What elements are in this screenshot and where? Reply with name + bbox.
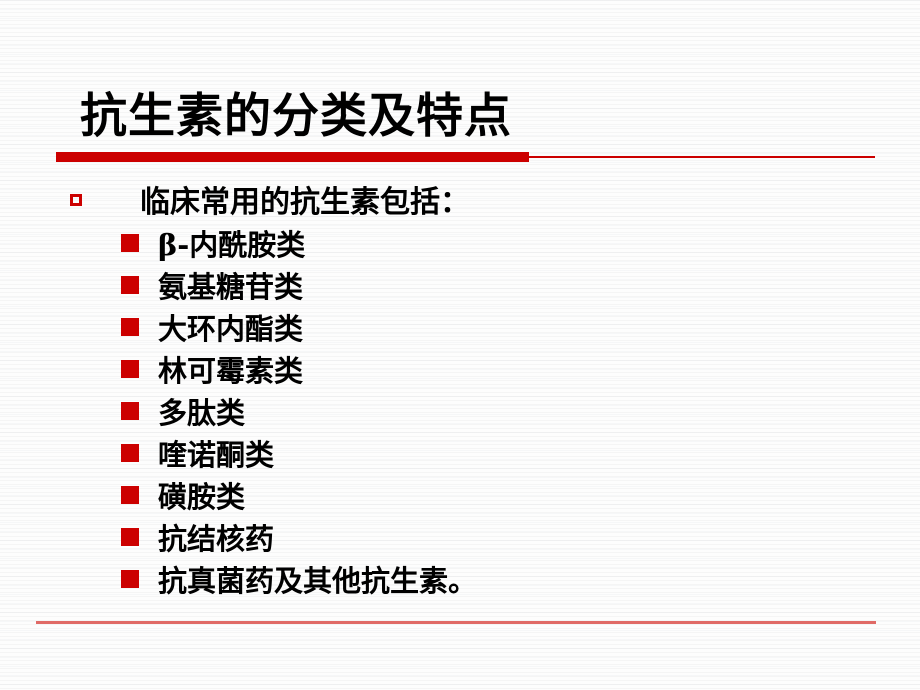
list-item: 磺胺类 — [121, 476, 920, 518]
list-item-label: 氨基糖苷类 — [158, 270, 303, 304]
filled-square-bullet-icon — [121, 444, 139, 462]
list-item: 氨基糖苷类 — [121, 266, 920, 308]
slide-content-list: 临床常用的抗生素包括： β-内酰胺类 氨基糖苷类 大环内酯类 林可霉素类 多肽类… — [0, 182, 920, 602]
list-item: 多肽类 — [121, 392, 920, 434]
filled-square-bullet-icon — [121, 318, 139, 336]
filled-square-bullet-icon — [121, 570, 139, 588]
list-item-lead-in: 临床常用的抗生素包括： — [70, 182, 920, 224]
list-item: 喹诺酮类 — [121, 434, 920, 476]
presentation-slide: 抗生素的分类及特点 临床常用的抗生素包括： β-内酰胺类 氨基糖苷类 大环内酯类… — [0, 0, 920, 690]
footer-rule — [36, 621, 876, 624]
list-item-label: 磺胺类 — [158, 480, 245, 514]
list-item: 抗真菌药及其他抗生素。 — [121, 560, 920, 602]
filled-square-bullet-icon — [121, 402, 139, 420]
list-item-label: 抗结核药 — [158, 522, 274, 556]
filled-square-bullet-icon — [121, 360, 139, 378]
list-item: 林可霉素类 — [121, 350, 920, 392]
list-item-label: 多肽类 — [158, 396, 245, 430]
list-item: 抗结核药 — [121, 518, 920, 560]
list-item-label: 林可霉素类 — [158, 354, 303, 388]
page-title: 抗生素的分类及特点 — [80, 88, 512, 146]
filled-square-bullet-icon — [121, 528, 139, 546]
list-item: β-内酰胺类 — [121, 224, 920, 266]
hollow-square-bullet-icon — [70, 194, 82, 206]
list-item-label: 喹诺酮类 — [158, 438, 274, 472]
filled-square-bullet-icon — [121, 276, 139, 294]
list-item-label: 抗真菌药及其他抗生素。 — [158, 564, 477, 598]
filled-square-bullet-icon — [121, 486, 139, 504]
filled-square-bullet-icon — [121, 234, 139, 252]
list-item-label: 临床常用的抗生素包括： — [140, 186, 470, 220]
list-item-label: 大环内酯类 — [158, 312, 303, 346]
list-item-label: β-内酰胺类 — [158, 228, 305, 262]
list-item: 大环内酯类 — [121, 308, 920, 350]
title-underline-thick — [56, 152, 529, 162]
